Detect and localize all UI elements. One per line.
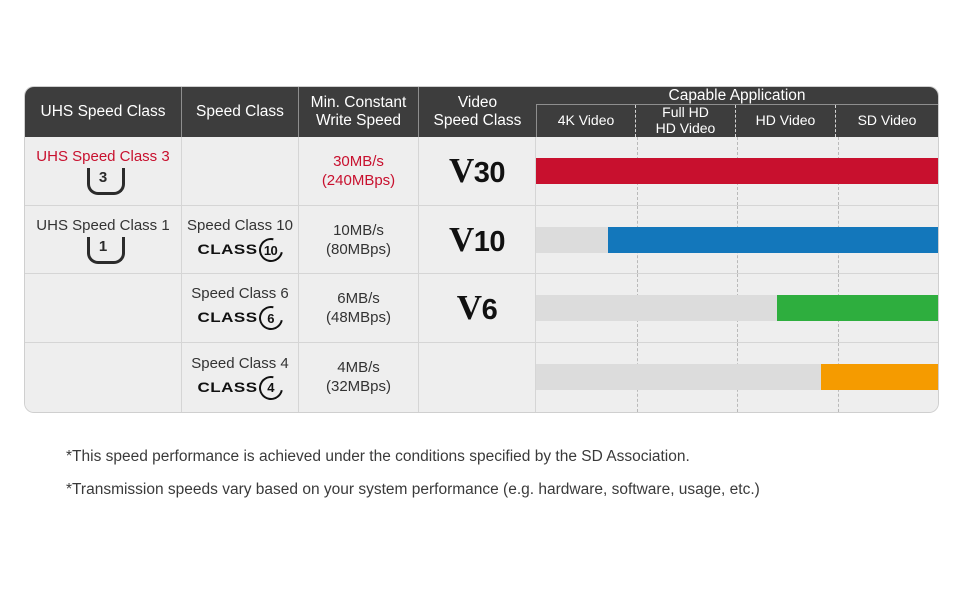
- cell-min-write-speed: 4MB/s (32MBps): [299, 343, 419, 412]
- header-row-group: UHS Speed Class Speed Class Min. Constan…: [25, 87, 938, 105]
- bar-track: [536, 158, 938, 184]
- bar-track: [536, 295, 938, 321]
- cell-speed-class: Speed Class 6 CLASS 6: [182, 274, 299, 342]
- u1-badge-number: 1: [83, 238, 123, 255]
- cell-capable-application-bar: [536, 137, 938, 206]
- v-number: 30: [474, 157, 505, 189]
- min-write-speed-primary: 10MB/s: [333, 222, 384, 239]
- uhs-class-label: UHS Speed Class 3: [36, 148, 169, 165]
- cell-min-write-speed: 6MB/s (48MBps): [299, 274, 419, 342]
- subheader-fullhd-line2: HD Video: [636, 121, 735, 137]
- bar-track: [536, 227, 938, 253]
- cell-uhs-speed-class: UHS Speed Class 3 3: [25, 137, 182, 206]
- speed-class-label: Speed Class 10: [187, 217, 293, 234]
- class-badge-ring: 10: [259, 238, 283, 262]
- class-badge-ring: 4: [259, 376, 283, 400]
- subheader-hd-line1: HD Video: [736, 113, 835, 129]
- min-write-speed-primary: 30MB/s: [333, 153, 384, 170]
- cell-capable-application-bar: [536, 343, 938, 412]
- table-row: UHS Speed Class 3 3 30MB/s (240MBps): [25, 137, 938, 206]
- class-badge-word: CLASS: [197, 310, 257, 326]
- cell-capable-application-bar: [536, 274, 938, 342]
- min-write-speed-secondary: (80MBps): [326, 241, 391, 258]
- class-badge-word: CLASS: [197, 242, 257, 258]
- v10-badge-icon: V10: [449, 223, 505, 258]
- v-letter: V: [449, 220, 474, 259]
- footnote-2: *Transmission speeds vary based on your …: [66, 480, 946, 500]
- min-write-speed-secondary: (240MBps): [322, 172, 395, 189]
- cell-uhs-speed-class: [25, 343, 182, 412]
- bar-fill-hd: [777, 295, 938, 321]
- table-row: Speed Class 6 CLASS 6 6MB/s (48MB: [25, 274, 938, 342]
- bar-fill-fullhd: [608, 227, 938, 253]
- class-badge-word: CLASS: [197, 380, 257, 396]
- column-header-min-constant-write-speed: Min. Constant Write Speed: [299, 87, 419, 137]
- min-write-speed-secondary: (48MBps): [326, 309, 391, 326]
- class-badge-number: 6: [259, 306, 283, 330]
- min-write-speed-primary: 4MB/s: [337, 359, 380, 376]
- cell-speed-class: [182, 137, 299, 206]
- column-header-video-line1: Video: [419, 94, 536, 111]
- cell-uhs-speed-class: UHS Speed Class 1 1: [25, 206, 182, 274]
- table-row: Speed Class 4 CLASS 4 4MB/s (32MB: [25, 343, 938, 412]
- cell-video-speed-class: V6: [419, 274, 536, 342]
- u3-badge-icon: 3: [83, 168, 123, 194]
- v-number: 6: [482, 294, 498, 326]
- class-badge-number: 10: [259, 238, 283, 262]
- cell-video-speed-class: V10: [419, 206, 536, 274]
- bar-fill-4k: [536, 158, 938, 184]
- min-write-speed-secondary: (32MBps): [326, 378, 391, 395]
- v6-badge-icon: V6: [457, 291, 497, 326]
- column-header-full-hd-video: Full HD HD Video: [636, 105, 736, 136]
- column-header-min-write-line2: Write Speed: [299, 112, 418, 129]
- column-header-hd-video: HD Video: [736, 105, 836, 136]
- sd-speed-class-table: UHS Speed Class Speed Class Min. Constan…: [25, 87, 938, 412]
- cell-uhs-speed-class: [25, 274, 182, 342]
- v-letter: V: [449, 151, 474, 190]
- cell-video-speed-class: V30: [419, 137, 536, 206]
- column-header-video-speed-class: Video Speed Class: [419, 87, 536, 137]
- uhs-class-label: UHS Speed Class 1: [36, 217, 169, 234]
- class-badge-ring: 6: [259, 306, 283, 330]
- cell-video-speed-class: [419, 343, 536, 412]
- speed-class-table-container: UHS Speed Class Speed Class Min. Constan…: [25, 87, 938, 412]
- column-header-4k-video: 4K Video: [536, 105, 636, 136]
- u1-badge-icon: 1: [83, 237, 123, 263]
- cell-speed-class: Speed Class 4 CLASS 4: [182, 343, 299, 412]
- bar-fill-sd: [821, 364, 938, 390]
- table-row: UHS Speed Class 1 1 Speed Class 10 CLASS: [25, 206, 938, 274]
- cell-min-write-speed: 10MB/s (80MBps): [299, 206, 419, 274]
- bar-track: [536, 364, 938, 390]
- min-write-speed-primary: 6MB/s: [337, 290, 380, 307]
- column-header-sd-video: SD Video: [836, 105, 938, 136]
- footnotes: *This speed performance is achieved unde…: [66, 447, 946, 513]
- subheader-sd-line1: SD Video: [836, 113, 938, 129]
- column-header-capable-application: Capable Application: [536, 87, 938, 105]
- table-body: UHS Speed Class 3 3 30MB/s (240MBps): [25, 137, 938, 412]
- column-header-video-line2: Speed Class: [419, 112, 536, 129]
- class-6-badge-icon: CLASS 6: [197, 306, 282, 330]
- class-badge-number: 4: [259, 376, 283, 400]
- cell-min-write-speed: 30MB/s (240MBps): [299, 137, 419, 206]
- column-header-uhs-speed-class: UHS Speed Class: [25, 87, 182, 137]
- subheader-fullhd-line1: Full HD: [636, 105, 735, 121]
- speed-class-label: Speed Class 4: [191, 355, 289, 372]
- u3-badge-number: 3: [83, 169, 123, 186]
- v-letter: V: [457, 288, 482, 327]
- speed-class-label: Speed Class 6: [191, 285, 289, 302]
- subheader-4k-line1: 4K Video: [537, 113, 635, 129]
- column-header-min-write-line1: Min. Constant: [299, 94, 418, 111]
- v30-badge-icon: V30: [449, 154, 505, 189]
- cell-capable-application-bar: [536, 206, 938, 274]
- cell-speed-class: Speed Class 10 CLASS 10: [182, 206, 299, 274]
- class-10-badge-icon: CLASS 10: [197, 238, 282, 262]
- footnote-1: *This speed performance is achieved unde…: [66, 447, 946, 467]
- table-header: UHS Speed Class Speed Class Min. Constan…: [25, 87, 938, 137]
- column-header-speed-class: Speed Class: [182, 87, 299, 137]
- class-4-badge-icon: CLASS 4: [197, 376, 282, 400]
- v-number: 10: [474, 226, 505, 258]
